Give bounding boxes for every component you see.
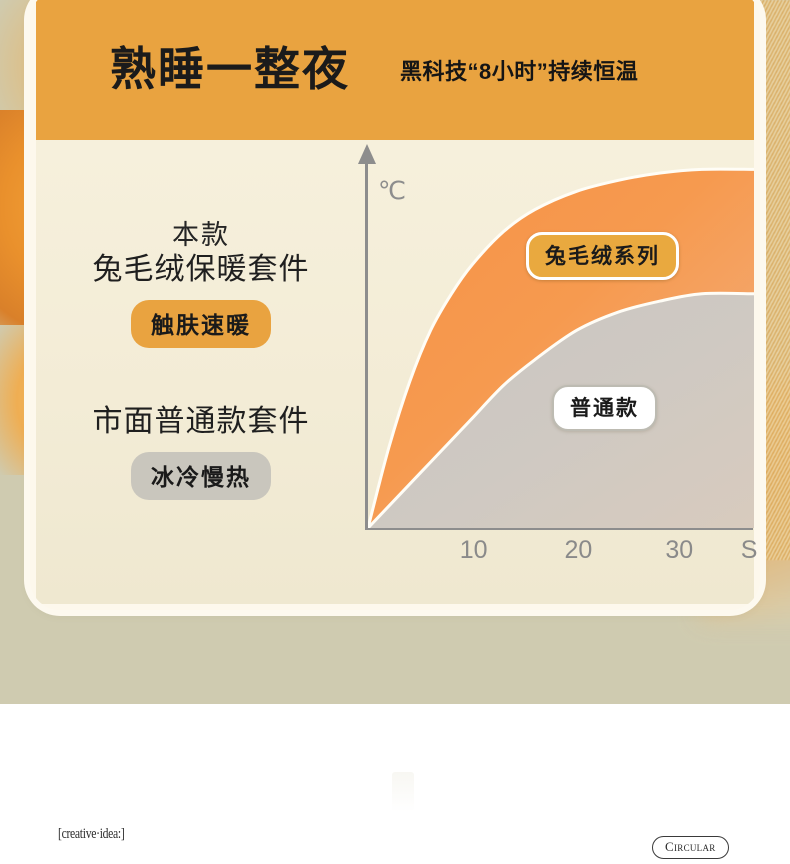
series-label-standard: 普通款 bbox=[552, 385, 657, 431]
header-subtitle: 黑科技“8小时”持续恒温 bbox=[400, 54, 638, 86]
chart-series-svg bbox=[368, 162, 754, 528]
card-header: 熟睡一整夜 黑科技“8小时”持续恒温 bbox=[36, 0, 754, 140]
x-axis-tick-S: S bbox=[741, 536, 758, 565]
comparison-labels: 本款 兔毛绒保暖套件 触肤速暖 市面普通款套件 冰冷慢热 bbox=[56, 220, 346, 500]
y-axis-arrow-icon bbox=[358, 144, 376, 164]
x-axis-tick-10: 10 bbox=[460, 536, 488, 565]
compare-tag-badge: 冰冷慢热 bbox=[131, 452, 271, 500]
x-axis-tick-30: 30 bbox=[665, 536, 693, 565]
product-tag-badge: 触肤速暖 bbox=[131, 300, 271, 348]
series-label-premium: 兔毛绒系列 bbox=[526, 232, 679, 280]
compare-name: 市面普通款套件 bbox=[56, 404, 346, 440]
x-axis-tick-labels: 102030S bbox=[365, 536, 753, 576]
page-root: 熟睡一整夜 黑科技“8小时”持续恒温 本款 兔毛绒保暖套件 触肤速暖 市面普通款… bbox=[0, 0, 790, 864]
creative-idea-logo: [creative·idea:] bbox=[58, 826, 124, 843]
product-name: 兔毛绒保暖套件 bbox=[56, 252, 346, 288]
page-title: 熟睡一整夜 bbox=[110, 47, 350, 93]
feature-card: 熟睡一整夜 黑科技“8小时”持续恒温 本款 兔毛绒保暖套件 触肤速暖 市面普通款… bbox=[30, 0, 760, 610]
compare-block: 市面普通款套件 冰冷慢热 bbox=[56, 404, 346, 500]
product-block: 本款 兔毛绒保暖套件 触肤速暖 bbox=[56, 220, 346, 348]
watermark-mark-icon bbox=[392, 772, 414, 812]
card-body: 本款 兔毛绒保暖套件 触肤速暖 市面普通款套件 冰冷慢热 ℃ bbox=[36, 140, 754, 604]
x-axis-tick-20: 20 bbox=[564, 536, 592, 565]
circular-brand-logo: Circular bbox=[652, 836, 729, 859]
product-prefix: 本款 bbox=[56, 220, 346, 252]
temperature-chart: ℃ bbox=[344, 140, 754, 604]
chart-plot-area bbox=[368, 162, 754, 528]
page-footer: [creative·idea:] Circular bbox=[0, 704, 790, 864]
